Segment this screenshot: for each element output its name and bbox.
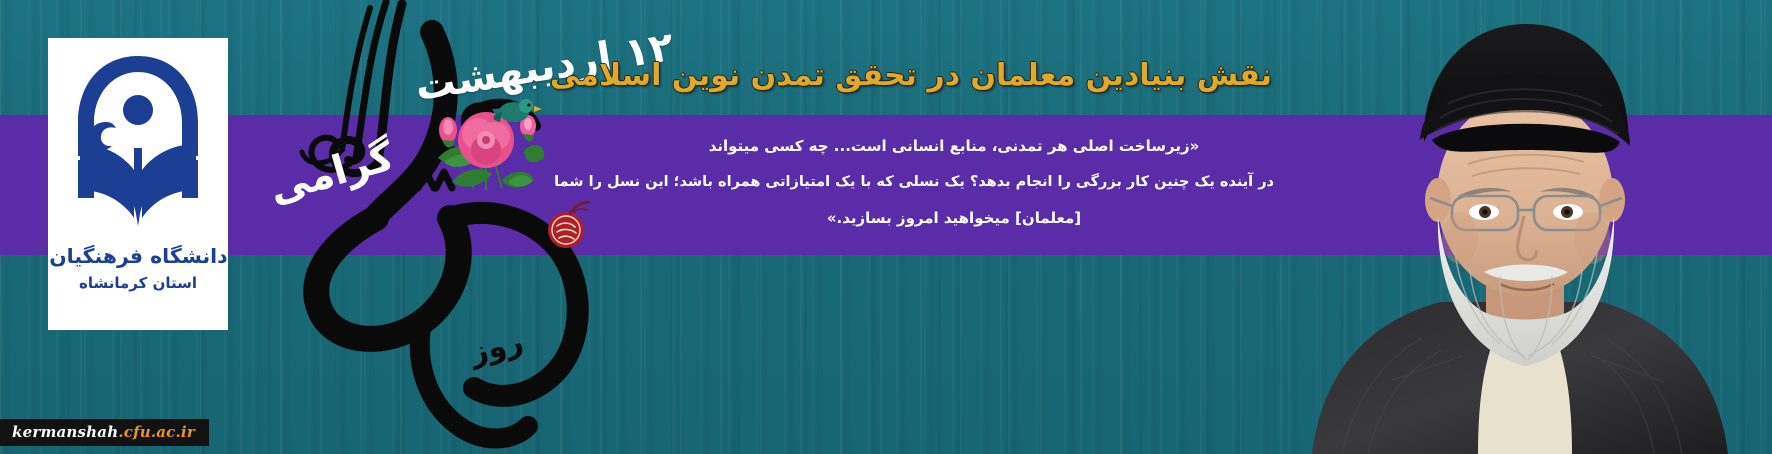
page-title: نقش بنیادین معلمان در تحقق تمدن نوین اسل… (550, 58, 1272, 93)
logo-university-name: دانشگاه فرهنگیان (49, 244, 227, 268)
university-logo-card: دانشگاه فرهنگیان استان کرمانشاه (48, 38, 228, 330)
logo-province-name: استان کرمانشاه (79, 274, 197, 292)
red-circular-seal-icon (540, 196, 596, 250)
url-domain-part: .cfu.ac.ir (118, 423, 195, 441)
farhangian-university-emblem-icon (72, 48, 204, 248)
teacher-day-banner: دانشگاه فرهنگیان استان کرمانشاه kermansh… (0, 0, 1772, 454)
leader-quote: «زیرساخت اصلی هر تمدنی، منابع انسانی است… (634, 128, 1274, 236)
leader-portrait-image (1272, 0, 1772, 454)
url-site-part: kermanshah (12, 423, 118, 441)
quote-line-1: «زیرساخت اصلی هر تمدنی، منابع انسانی است… (634, 128, 1274, 164)
website-url-bar[interactable]: kermanshah.cfu.ac.ir (0, 419, 209, 446)
quote-line-2: در آینده یک چنین کار بزرگی را انجام بدهد… (634, 164, 1274, 200)
pink-rose-flowers-icon (428, 96, 548, 206)
quote-line-3: [معلمان] میخواهید امروز بسازید.» (634, 200, 1274, 236)
